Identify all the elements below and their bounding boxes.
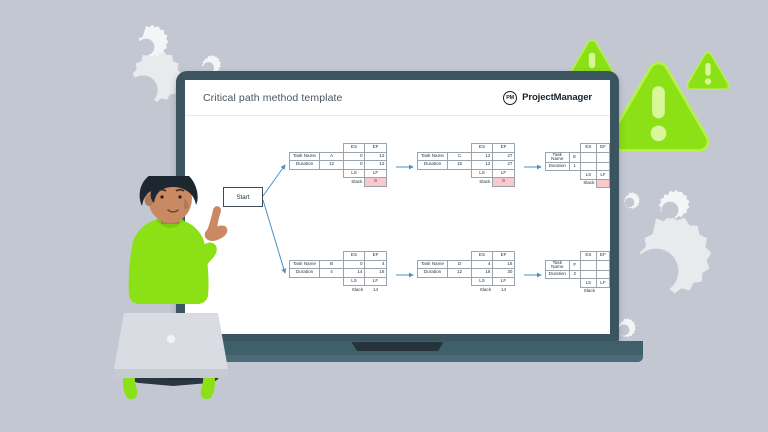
brand-logo: PM ProjectManager [503, 91, 592, 105]
node-b-ls: 14 [344, 269, 365, 278]
node-d-slack-label: Slack [472, 286, 493, 295]
node-d-ef-header: EF [493, 252, 515, 261]
node-f-duration: 2 [569, 270, 580, 279]
node-c-ef: 27 [493, 152, 515, 161]
node-e-slack-label: Slack [580, 179, 596, 188]
node-c-es-header: ES [472, 144, 493, 153]
node-e: ES EF Task Name E Duration 1 [545, 143, 610, 188]
node-b-ls-header: LS [344, 277, 365, 286]
cpm-diagram: Start ES EF Task Name A 0 [185, 116, 610, 334]
node-c-lf-header: LF [493, 169, 515, 178]
node-e-es [580, 152, 596, 162]
node-b-lf-header: LF [365, 277, 387, 286]
node-b-ef-header: EF [365, 252, 387, 261]
node-d-duration-label: Duration [418, 269, 448, 278]
node-b-slack: 14 [365, 286, 387, 295]
page-title: Critical path method template [203, 92, 342, 104]
gear-right-medium [650, 190, 690, 230]
node-f-ls-header: LS [580, 279, 596, 288]
node-c-ls: 12 [472, 161, 493, 170]
node-d-task-label: Task Name [418, 260, 448, 269]
node-d-slack: 14 [493, 286, 515, 295]
node-d-es-header: ES [472, 252, 493, 261]
node-a-ls: 0 [344, 161, 365, 170]
node-c-es: 12 [472, 152, 493, 161]
node-b-slack-label: Slack [344, 286, 365, 295]
node-c-ls-header: LS [472, 169, 493, 178]
node-e-ef [597, 152, 610, 162]
node-a-ls-header: LS [344, 169, 365, 178]
node-b-duration-label: Duration [290, 269, 320, 278]
laptop-screen: Critical path method template PM Project… [185, 80, 610, 334]
brand-name: ProjectManager [522, 92, 592, 103]
node-a-ef-header: EF [365, 144, 387, 153]
node-e-lf-header: LF [597, 171, 610, 180]
node-f-lf-header: LF [596, 279, 609, 288]
node-c-ef-header: EF [493, 144, 515, 153]
node-e-es-header: ES [580, 144, 596, 153]
node-e-duration: 1 [569, 162, 580, 171]
node-b-es-header: ES [344, 252, 365, 261]
node-c: ES EF Task Name C 12 27 Duration 15 [417, 143, 515, 187]
person-with-laptop-illustration [96, 176, 246, 406]
node-a-es: 0 [344, 152, 365, 161]
gear-top-left-medium [124, 25, 168, 69]
node-a-ef: 12 [365, 152, 387, 161]
node-f-task-label: Task Name [546, 260, 570, 270]
node-e-task-label: Task Name [546, 152, 570, 162]
node-f: ES EF Task Name F Duration 2 [545, 251, 610, 296]
laptop-trackpad-notch [352, 342, 444, 351]
node-d-es: 4 [472, 260, 493, 269]
node-a-duration: 12 [320, 161, 344, 170]
node-c-slack: 0 [493, 178, 515, 187]
node-f-ef [596, 260, 609, 270]
node-f-es-header: ES [580, 252, 596, 261]
node-d-ls: 18 [472, 269, 493, 278]
node-e-lf [597, 162, 610, 171]
node-f-slack [596, 287, 609, 296]
node-d-lf-header: LF [493, 277, 515, 286]
node-d-ef: 16 [493, 260, 515, 269]
node-a-task-label: Task Name [290, 152, 320, 161]
node-f-es [580, 260, 596, 270]
node-a-slack: 0 [365, 178, 387, 187]
node-d-ls-header: LS [472, 277, 493, 286]
node-c-task: C [448, 152, 472, 161]
warning-triangle-small-right [684, 50, 732, 93]
node-c-duration-label: Duration [418, 161, 448, 170]
node-b-task: B [320, 260, 344, 269]
node-d: ES EF Task Name D 4 16 Duration 12 1 [417, 251, 515, 294]
node-a: ES EF Task Name A 0 12 Duration 12 0 [289, 143, 387, 187]
node-c-duration: 15 [448, 161, 472, 170]
node-c-lf: 27 [493, 161, 515, 170]
node-b-es: 0 [344, 260, 365, 269]
gear-right-small [619, 192, 640, 213]
node-d-task: D [448, 260, 472, 269]
node-a-lf: 12 [365, 161, 387, 170]
node-c-slack-label: Slack [472, 178, 493, 187]
node-f-duration-label: Duration [546, 270, 570, 279]
node-e-ls-header: LS [580, 171, 596, 180]
node-e-slack [597, 179, 610, 188]
node-d-lf: 30 [493, 269, 515, 278]
node-e-ls [580, 162, 596, 171]
node-f-ef-header: EF [596, 252, 609, 261]
node-c-task-label: Task Name [418, 152, 448, 161]
document-header: Critical path method template PM Project… [185, 80, 610, 116]
node-a-duration-label: Duration [290, 161, 320, 170]
node-f-ls [580, 270, 596, 279]
node-f-slack-label: Slack [580, 287, 596, 296]
node-b-task-label: Task Name [290, 260, 320, 269]
node-a-lf-header: LF [365, 169, 387, 178]
node-b-duration: 4 [320, 269, 344, 278]
projectmanager-mark-icon: PM [503, 91, 517, 105]
node-b-ef: 4 [365, 260, 387, 269]
node-a-es-header: ES [344, 144, 365, 153]
node-e-duration-label: Duration [546, 162, 570, 171]
node-e-task: E [569, 152, 580, 162]
node-e-ef-header: EF [597, 144, 610, 153]
node-f-task: F [569, 260, 580, 270]
node-b-lf: 18 [365, 269, 387, 278]
node-a-task: A [320, 152, 344, 161]
node-f-lf [596, 270, 609, 279]
node-d-duration: 12 [448, 269, 472, 278]
node-b: ES EF Task Name B 0 4 Duration 4 14 [289, 251, 387, 294]
node-a-slack-label: Slack [344, 178, 365, 187]
